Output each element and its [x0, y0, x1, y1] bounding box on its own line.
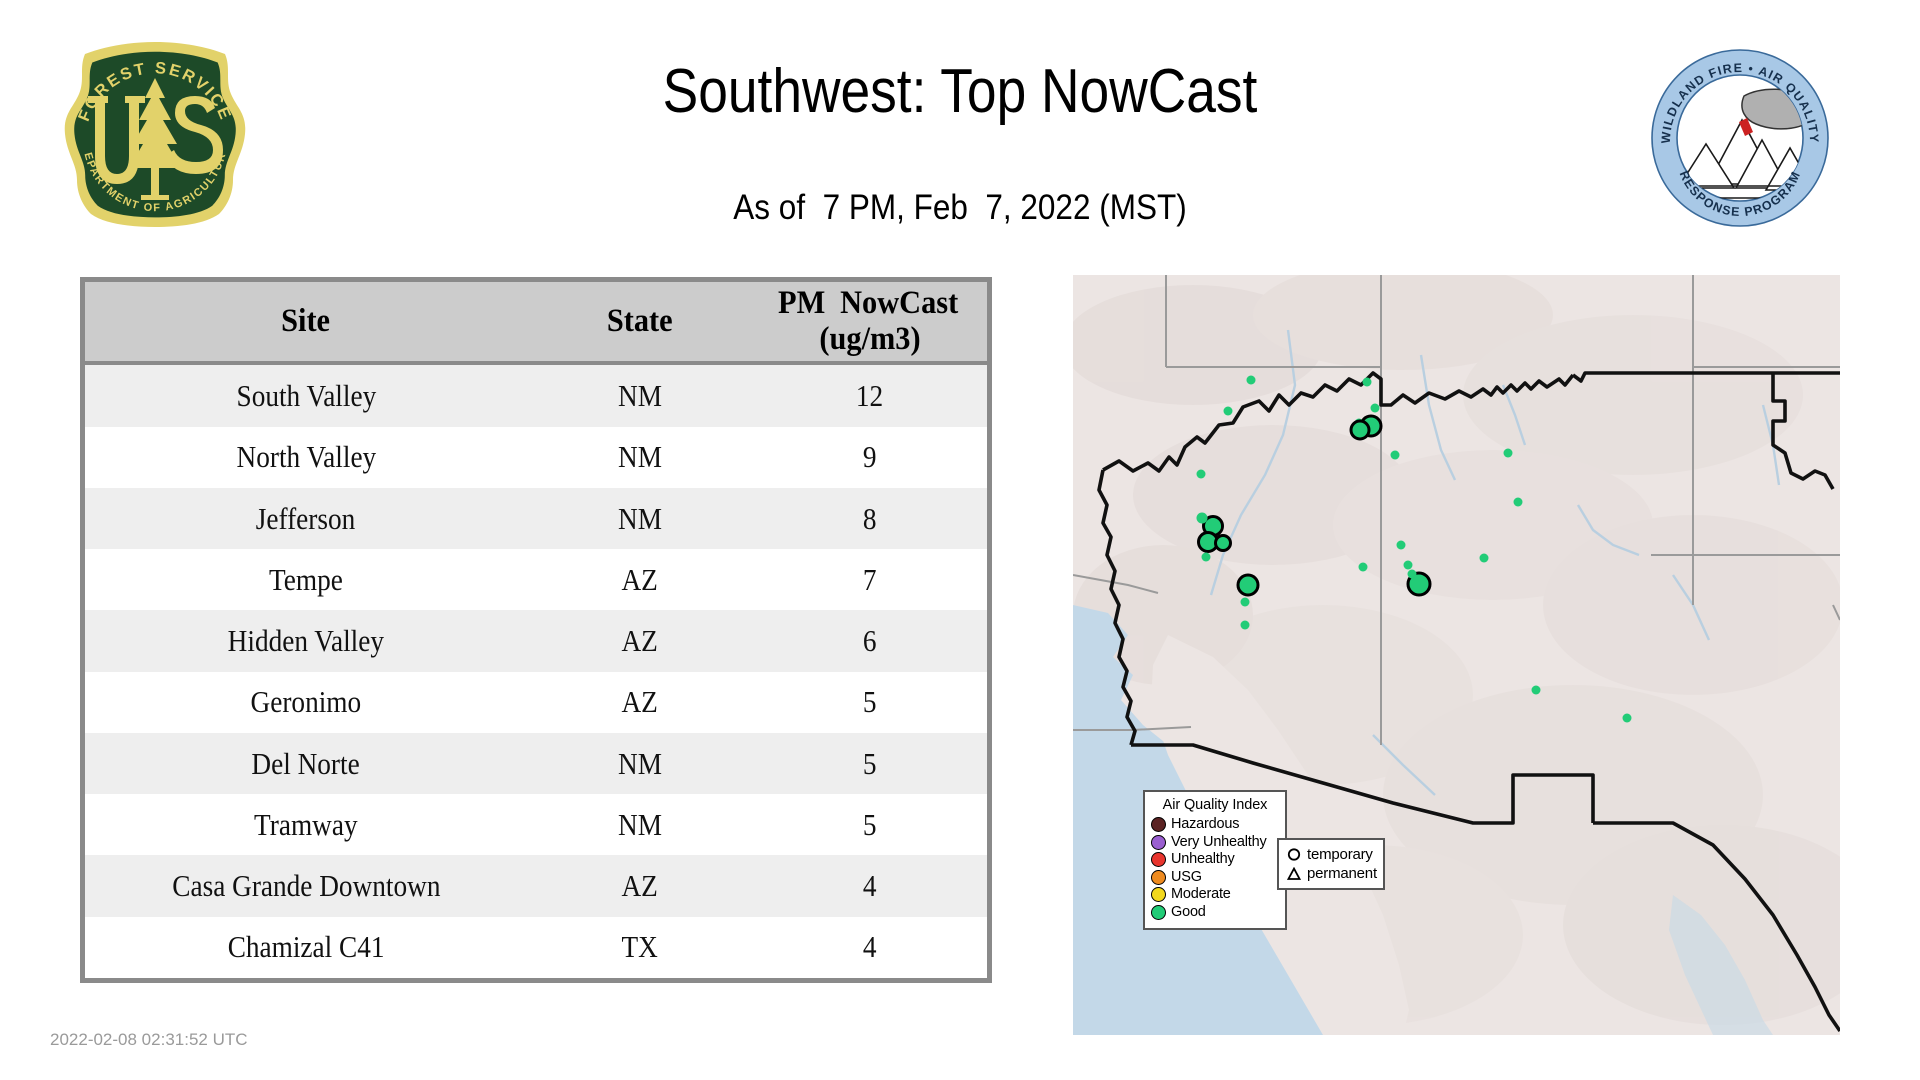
- table-row: JeffersonNM8: [85, 488, 987, 549]
- site-cell-text: Jefferson: [256, 501, 355, 537]
- site-cell-text: Geronimo: [251, 684, 362, 720]
- table-row: Chamizal C41TX4: [85, 917, 987, 978]
- monitor-marker[interactable]: [1247, 376, 1256, 385]
- site-legend-row-temporary: temporary: [1285, 845, 1377, 864]
- value-cell-text: 12: [856, 378, 883, 414]
- value-cell: 5: [752, 794, 987, 855]
- monitor-marker[interactable]: [1359, 563, 1368, 572]
- state-cell: AZ: [527, 672, 753, 733]
- table-body: South ValleyNM12North ValleyNM9Jefferson…: [85, 363, 987, 978]
- aqi-legend-item: Moderate: [1151, 886, 1279, 904]
- site-cell: Tempe: [85, 549, 527, 610]
- value-cell-text: 5: [863, 684, 877, 720]
- state-cell-text: AZ: [622, 623, 658, 659]
- value-cell-text: 5: [863, 746, 877, 782]
- site-cell: Casa Grande Downtown: [85, 855, 527, 916]
- state-cell-text: TX: [622, 929, 658, 965]
- monitor-marker[interactable]: [1197, 513, 1208, 524]
- site-type-legend: temporary permanent: [1277, 838, 1385, 890]
- value-cell-text: 5: [863, 807, 877, 843]
- value-cell: 9: [752, 427, 987, 488]
- state-cell-text: NM: [618, 439, 662, 475]
- aqi-legend-swatch-icon: [1151, 887, 1166, 902]
- table-row: TramwayNM5: [85, 794, 987, 855]
- top-nowcast-table: Site State PM NowCast (ug/m3) South Vall…: [85, 282, 987, 978]
- monitor-marker[interactable]: [1408, 570, 1417, 579]
- monitor-marker[interactable]: [1197, 470, 1206, 479]
- aqi-legend-swatch-icon: [1151, 817, 1166, 832]
- monitor-marker[interactable]: [1202, 553, 1211, 562]
- air-quality-map[interactable]: Air Quality Index HazardousVery Unhealth…: [1073, 275, 1840, 1035]
- monitor-marker[interactable]: [1514, 498, 1523, 507]
- site-cell: Hidden Valley: [85, 610, 527, 671]
- value-cell: 12: [752, 363, 987, 426]
- monitor-marker[interactable]: [1623, 714, 1632, 723]
- column-header-pm-line1: PM: [778, 286, 825, 322]
- monitor-marker[interactable]: [1216, 536, 1231, 551]
- aqi-legend-title: Air Quality Index: [1151, 797, 1279, 813]
- state-cell-text: NM: [618, 378, 662, 414]
- site-cell: Geronimo: [85, 672, 527, 733]
- aqi-legend-rows: HazardousVery UnhealthyUnhealthyUSGModer…: [1151, 816, 1279, 921]
- table-row: GeronimoAZ5: [85, 672, 987, 733]
- column-header-site: Site: [85, 282, 527, 363]
- monitor-marker[interactable]: [1371, 404, 1380, 413]
- state-cell: AZ: [527, 549, 753, 610]
- site-cell: Chamizal C41: [85, 917, 527, 978]
- site-cell: North Valley: [85, 427, 527, 488]
- site-cell-text: South Valley: [236, 378, 376, 414]
- top-nowcast-table-panel: Site State PM NowCast (ug/m3) South Vall…: [80, 277, 992, 983]
- aqi-legend-item: Hazardous: [1151, 816, 1279, 834]
- site-cell: Jefferson: [85, 488, 527, 549]
- aqi-legend-label: Very Unhealthy: [1171, 835, 1267, 850]
- table-row: Casa Grande DowntownAZ4: [85, 855, 987, 916]
- table-row: South ValleyNM12: [85, 363, 987, 426]
- monitor-marker[interactable]: [1224, 407, 1233, 416]
- table-header: Site State PM NowCast (ug/m3): [85, 282, 987, 363]
- value-cell: 8: [752, 488, 987, 549]
- site-cell: Del Norte: [85, 733, 527, 794]
- state-cell: NM: [527, 427, 753, 488]
- site-cell: South Valley: [85, 363, 527, 426]
- column-header-site-label: Site: [282, 304, 331, 340]
- monitor-marker[interactable]: [1404, 561, 1413, 570]
- aqi-legend-item: Good: [1151, 904, 1279, 922]
- site-legend-label-permanent: permanent: [1307, 866, 1377, 882]
- site-cell-text: North Valley: [236, 439, 376, 475]
- value-cell: 5: [752, 733, 987, 794]
- value-cell-text: 7: [863, 562, 877, 598]
- monitor-marker[interactable]: [1241, 598, 1250, 607]
- aqi-legend-item: USG: [1151, 869, 1279, 887]
- value-cell: 5: [752, 672, 987, 733]
- aqi-legend-swatch-icon: [1151, 835, 1166, 850]
- page-title: Southwest: Top NowCast: [134, 56, 1785, 128]
- value-cell-text: 6: [863, 623, 877, 659]
- state-cell-text: NM: [618, 746, 662, 782]
- state-cell-text: AZ: [622, 684, 658, 720]
- state-cell: NM: [527, 488, 753, 549]
- column-header-state: State: [527, 282, 753, 363]
- site-cell-text: Hidden Valley: [228, 623, 384, 659]
- site-cell-text: Tempe: [269, 562, 343, 598]
- state-cell: NM: [527, 733, 753, 794]
- table-row: Hidden ValleyAZ6: [85, 610, 987, 671]
- monitor-marker[interactable]: [1504, 449, 1513, 458]
- state-cell-text: NM: [618, 807, 662, 843]
- monitor-marker[interactable]: [1480, 554, 1489, 563]
- state-cell: TX: [527, 917, 753, 978]
- site-cell-text: Chamizal C41: [228, 929, 385, 965]
- state-cell: AZ: [527, 855, 753, 916]
- value-cell-text: 8: [863, 501, 877, 537]
- state-cell-text: AZ: [622, 562, 658, 598]
- aqi-legend: Air Quality Index HazardousVery Unhealth…: [1143, 790, 1287, 930]
- site-cell-text: Del Norte: [252, 746, 360, 782]
- column-header-pm-line3: (ug/m3): [819, 322, 920, 358]
- value-cell: 6: [752, 610, 987, 671]
- generation-timestamp: 2022-02-08 02:31:52 UTC: [50, 1030, 248, 1050]
- state-cell-text: AZ: [622, 868, 658, 904]
- column-header-pm-nowcast: PM NowCast (ug/m3): [752, 282, 987, 363]
- site-cell-text: Tramway: [254, 807, 358, 843]
- site-legend-row-permanent: permanent: [1285, 864, 1377, 883]
- page-subtitle: As of 7 PM, Feb 7, 2022 (MST): [96, 187, 1824, 229]
- site-cell: Tramway: [85, 794, 527, 855]
- value-cell: 4: [752, 855, 987, 916]
- aqi-legend-swatch-icon: [1151, 852, 1166, 867]
- value-cell-text: 9: [863, 439, 877, 475]
- aqi-legend-swatch-icon: [1151, 905, 1166, 920]
- table-row: Del NorteNM5: [85, 733, 987, 794]
- circle-outline-icon: [1285, 848, 1303, 862]
- value-cell-text: 4: [863, 929, 877, 965]
- aqi-legend-item: Very Unhealthy: [1151, 834, 1279, 852]
- aqi-legend-label: Hazardous: [1171, 817, 1239, 832]
- value-cell-text: 4: [863, 868, 877, 904]
- site-cell-text: Casa Grande Downtown: [172, 868, 440, 904]
- state-cell: NM: [527, 363, 753, 426]
- aqi-legend-label: USG: [1171, 870, 1202, 885]
- monitor-marker[interactable]: [1532, 686, 1541, 695]
- monitor-marker[interactable]: [1391, 451, 1400, 460]
- state-cell: NM: [527, 794, 753, 855]
- column-header-state-label: State: [607, 304, 673, 340]
- monitor-marker[interactable]: [1397, 541, 1406, 550]
- aqi-legend-label: Good: [1171, 905, 1206, 920]
- state-cell-text: NM: [618, 501, 662, 537]
- aqi-legend-swatch-icon: [1151, 870, 1166, 885]
- value-cell: 7: [752, 549, 987, 610]
- monitor-marker[interactable]: [1241, 621, 1250, 630]
- aqi-legend-item: Unhealthy: [1151, 851, 1279, 869]
- monitor-marker[interactable]: [1238, 575, 1258, 595]
- monitor-marker[interactable]: [1363, 378, 1372, 387]
- table-header-row: Site State PM NowCast (ug/m3): [85, 282, 987, 363]
- table-row: TempeAZ7: [85, 549, 987, 610]
- triangle-outline-icon: [1285, 867, 1303, 881]
- aqi-legend-label: Moderate: [1171, 887, 1231, 902]
- aqi-legend-label: Unhealthy: [1171, 852, 1235, 867]
- site-legend-label-temporary: temporary: [1307, 847, 1373, 863]
- monitor-marker[interactable]: [1211, 522, 1221, 532]
- column-header-pm-line2: NowCast: [840, 286, 958, 322]
- table-row: North ValleyNM9: [85, 427, 987, 488]
- value-cell: 4: [752, 917, 987, 978]
- state-cell: AZ: [527, 610, 753, 671]
- monitor-marker[interactable]: [1351, 421, 1369, 439]
